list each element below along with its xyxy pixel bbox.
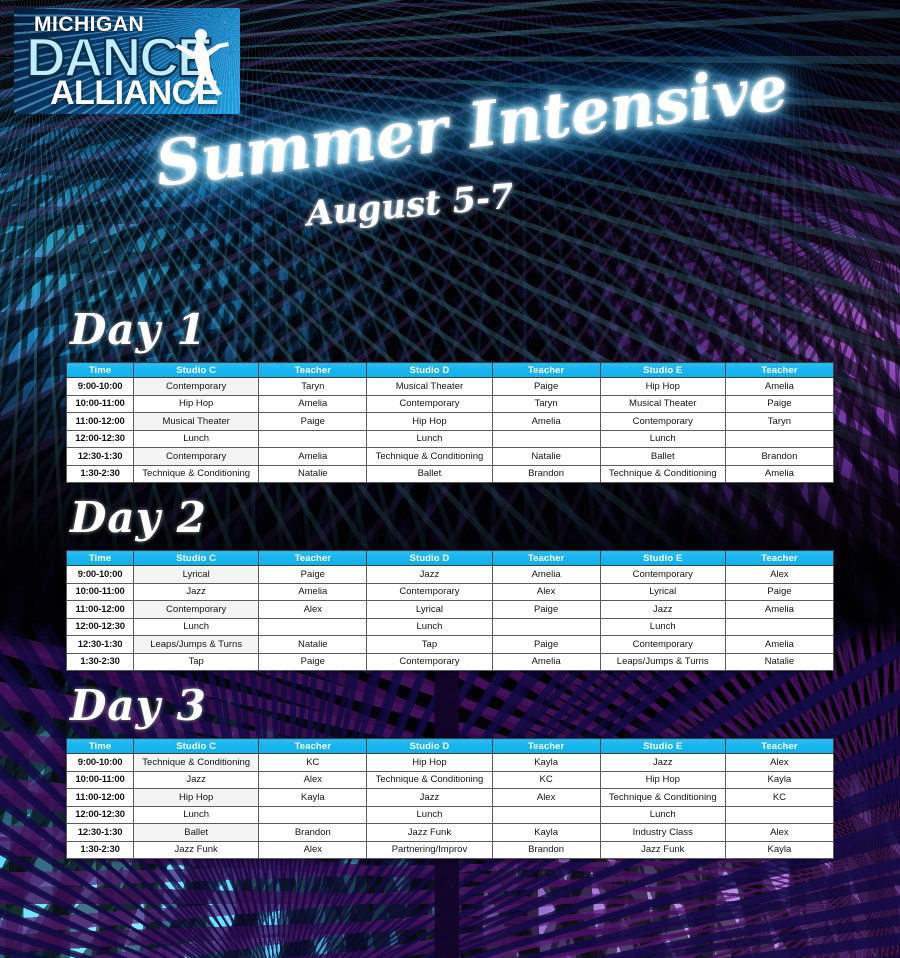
cell-studio-d-teacher (492, 806, 600, 824)
table-row: 12:00-12:30LunchLunchLunch (67, 618, 834, 636)
cell-studio-e-teacher: Alex (725, 824, 833, 842)
table-row: 12:30-1:30BalletBrandonJazz FunkKaylaInd… (67, 824, 834, 842)
cell-studio-c-teacher: KC (259, 754, 367, 772)
cell-time: 11:00-12:00 (67, 413, 134, 431)
cell-studio-e-teacher: Kayla (725, 771, 833, 789)
cell-studio-d-teacher: Amelia (492, 413, 600, 431)
cell-studio-c-class: Hip Hop (134, 395, 259, 413)
cell-studio-d-class: Technique & Conditioning (367, 771, 492, 789)
column-header-teacher-6: Teacher (725, 363, 833, 378)
cell-studio-e-teacher: Alex (725, 566, 833, 584)
cell-studio-d-teacher: Taryn (492, 395, 600, 413)
cell-time: 12:00-12:30 (67, 430, 134, 448)
cell-studio-d-class: Hip Hop (367, 754, 492, 772)
cell-studio-d-teacher: Alex (492, 789, 600, 807)
table-header-row: TimeStudio CTeacherStudio DTeacherStudio… (67, 363, 834, 378)
cell-studio-e-teacher: Natalie (725, 653, 833, 671)
cell-time: 1:30-2:30 (67, 465, 134, 483)
cell-studio-d-class: Lyrical (367, 601, 492, 619)
cell-studio-e-class: Technique & Conditioning (600, 465, 725, 483)
cell-studio-d-class: Lunch (367, 618, 492, 636)
cell-studio-e-class: Leaps/Jumps & Turns (600, 653, 725, 671)
schedule-table-day-1: TimeStudio CTeacherStudio DTeacherStudio… (66, 362, 834, 483)
cell-studio-e-teacher (725, 618, 833, 636)
cell-studio-d-class: Partnering/Improv (367, 841, 492, 859)
cell-studio-c-teacher: Amelia (259, 448, 367, 466)
cell-studio-c-teacher (259, 806, 367, 824)
day-section-1: Day 1TimeStudio CTeacherStudio DTeacherS… (0, 304, 900, 483)
column-header-studio-c-1: Studio C (134, 551, 259, 566)
cell-studio-c-teacher: Alex (259, 771, 367, 789)
cell-studio-c-class: Jazz Funk (134, 841, 259, 859)
table-header-row: TimeStudio CTeacherStudio DTeacherStudio… (67, 739, 834, 754)
cell-studio-e-teacher: Amelia (725, 601, 833, 619)
cell-studio-c-class: Hip Hop (134, 789, 259, 807)
column-header-studio-c-1: Studio C (134, 363, 259, 378)
day-heading-1: Day 1 (70, 304, 900, 356)
column-header-studio-d-3: Studio D (367, 551, 492, 566)
column-header-studio-e-5: Studio E (600, 363, 725, 378)
table-row: 1:30-2:30Jazz FunkAlexPartnering/ImprovB… (67, 841, 834, 859)
cell-studio-e-teacher: Amelia (725, 465, 833, 483)
cell-studio-c-class: Contemporary (134, 448, 259, 466)
table-row: 11:00-12:00Hip HopKaylaJazzAlexTechnique… (67, 789, 834, 807)
cell-studio-d-class: Jazz (367, 566, 492, 584)
cell-studio-c-teacher (259, 618, 367, 636)
column-header-studio-d-3: Studio D (367, 363, 492, 378)
cell-studio-e-class: Lunch (600, 430, 725, 448)
column-header-studio-e-5: Studio E (600, 739, 725, 754)
cell-studio-e-teacher: Amelia (725, 636, 833, 654)
cell-studio-c-class: Ballet (134, 824, 259, 842)
cell-time: 12:00-12:30 (67, 618, 134, 636)
cell-studio-d-teacher (492, 430, 600, 448)
cell-time: 1:30-2:30 (67, 841, 134, 859)
summer-intensive-poster: MICHIGAN DANCE ALLIANCE Summer Intensive… (0, 0, 900, 958)
column-header-teacher-4: Teacher (492, 739, 600, 754)
cell-time: 12:30-1:30 (67, 448, 134, 466)
cell-studio-e-class: Hip Hop (600, 378, 725, 396)
column-header-time-0: Time (67, 363, 134, 378)
table-row: 1:30-2:30TapPaigeContemporaryAmeliaLeaps… (67, 653, 834, 671)
cell-time: 12:00-12:30 (67, 806, 134, 824)
cell-studio-c-class: Lunch (134, 430, 259, 448)
table-row: 12:00-12:30LunchLunchLunch (67, 806, 834, 824)
cell-studio-e-class: Contemporary (600, 566, 725, 584)
cell-studio-d-teacher: Kayla (492, 754, 600, 772)
cell-studio-e-class: Jazz (600, 601, 725, 619)
cell-studio-d-class: Jazz (367, 789, 492, 807)
column-header-teacher-6: Teacher (725, 739, 833, 754)
cell-studio-c-class: Lyrical (134, 566, 259, 584)
cell-time: 9:00-10:00 (67, 378, 134, 396)
cell-studio-e-teacher: Taryn (725, 413, 833, 431)
cell-studio-c-teacher: Brandon (259, 824, 367, 842)
cell-studio-c-teacher: Natalie (259, 465, 367, 483)
table-row: 9:00-10:00ContemporaryTarynMusical Theat… (67, 378, 834, 396)
cell-studio-e-class: Technique & Conditioning (600, 789, 725, 807)
cell-studio-e-class: Lunch (600, 618, 725, 636)
table-row: 10:00-11:00JazzAlexTechnique & Condition… (67, 771, 834, 789)
cell-studio-d-teacher: Paige (492, 601, 600, 619)
cell-studio-d-teacher: Kayla (492, 824, 600, 842)
table-row: 10:00-11:00Hip HopAmeliaContemporaryTary… (67, 395, 834, 413)
cell-studio-c-class: Jazz (134, 771, 259, 789)
cell-studio-d-teacher: Alex (492, 583, 600, 601)
cell-studio-e-teacher: Kayla (725, 841, 833, 859)
cell-studio-d-teacher (492, 618, 600, 636)
cell-studio-e-teacher: KC (725, 789, 833, 807)
cell-studio-c-class: Technique & Conditioning (134, 465, 259, 483)
ballet-dancer-icon (170, 26, 232, 98)
cell-studio-e-class: Hip Hop (600, 771, 725, 789)
cell-studio-c-teacher: Taryn (259, 378, 367, 396)
table-row: 1:30-2:30Technique & ConditioningNatalie… (67, 465, 834, 483)
schedule-table-day-2: TimeStudio CTeacherStudio DTeacherStudio… (66, 550, 834, 671)
cell-studio-e-class: Lyrical (600, 583, 725, 601)
cell-studio-d-teacher: Natalie (492, 448, 600, 466)
table-row: 12:30-1:30ContemporaryAmeliaTechnique & … (67, 448, 834, 466)
column-header-teacher-4: Teacher (492, 363, 600, 378)
cell-studio-e-teacher (725, 806, 833, 824)
cell-studio-c-class: Technique & Conditioning (134, 754, 259, 772)
cell-studio-d-class: Lunch (367, 806, 492, 824)
table-row: 9:00-10:00Technique & ConditioningKCHip … (67, 754, 834, 772)
cell-studio-d-class: Musical Theater (367, 378, 492, 396)
cell-studio-e-teacher: Paige (725, 583, 833, 601)
cell-studio-e-class: Contemporary (600, 413, 725, 431)
cell-time: 12:30-1:30 (67, 636, 134, 654)
cell-studio-e-class: Industry Class (600, 824, 725, 842)
michigan-dance-alliance-logo: MICHIGAN DANCE ALLIANCE (14, 8, 240, 114)
cell-studio-c-teacher: Amelia (259, 395, 367, 413)
cell-studio-e-class: Contemporary (600, 636, 725, 654)
cell-studio-d-teacher: Brandon (492, 465, 600, 483)
column-header-time-0: Time (67, 739, 134, 754)
cell-studio-e-class: Jazz Funk (600, 841, 725, 859)
cell-studio-e-class: Lunch (600, 806, 725, 824)
cell-studio-d-teacher: Amelia (492, 653, 600, 671)
cell-studio-d-class: Lunch (367, 430, 492, 448)
cell-time: 10:00-11:00 (67, 395, 134, 413)
cell-studio-c-class: Tap (134, 653, 259, 671)
column-header-studio-d-3: Studio D (367, 739, 492, 754)
cell-studio-c-class: Contemporary (134, 378, 259, 396)
table-row: 10:00-11:00JazzAmeliaContemporaryAlexLyr… (67, 583, 834, 601)
day-heading-3: Day 3 (70, 680, 900, 732)
column-header-teacher-6: Teacher (725, 551, 833, 566)
column-header-teacher-4: Teacher (492, 551, 600, 566)
cell-studio-c-teacher: Paige (259, 413, 367, 431)
cell-studio-c-teacher (259, 430, 367, 448)
cell-studio-c-teacher: Alex (259, 601, 367, 619)
cell-studio-c-class: Lunch (134, 618, 259, 636)
cell-studio-c-teacher: Paige (259, 653, 367, 671)
cell-studio-e-teacher: Alex (725, 754, 833, 772)
cell-studio-c-class: Jazz (134, 583, 259, 601)
cell-studio-c-teacher: Natalie (259, 636, 367, 654)
table-row: 12:00-12:30LunchLunchLunch (67, 430, 834, 448)
table-row: 9:00-10:00LyricalPaigeJazzAmeliaContempo… (67, 566, 834, 584)
day-section-3: Day 3TimeStudio CTeacherStudio DTeacherS… (0, 680, 900, 859)
cell-studio-c-class: Contemporary (134, 601, 259, 619)
cell-studio-e-class: Musical Theater (600, 395, 725, 413)
cell-studio-c-class: Leaps/Jumps & Turns (134, 636, 259, 654)
column-header-teacher-2: Teacher (259, 739, 367, 754)
column-header-studio-c-1: Studio C (134, 739, 259, 754)
cell-studio-c-class: Musical Theater (134, 413, 259, 431)
column-header-time-0: Time (67, 551, 134, 566)
column-header-studio-e-5: Studio E (600, 551, 725, 566)
table-header-row: TimeStudio CTeacherStudio DTeacherStudio… (67, 551, 834, 566)
day-section-2: Day 2TimeStudio CTeacherStudio DTeacherS… (0, 492, 900, 671)
cell-studio-d-class: Technique & Conditioning (367, 448, 492, 466)
cell-studio-e-teacher (725, 430, 833, 448)
cell-time: 12:30-1:30 (67, 824, 134, 842)
cell-studio-d-teacher: KC (492, 771, 600, 789)
table-row: 11:00-12:00ContemporaryAlexLyricalPaigeJ… (67, 601, 834, 619)
cell-studio-d-class: Contemporary (367, 395, 492, 413)
cell-studio-d-class: Ballet (367, 465, 492, 483)
cell-time: 11:00-12:00 (67, 601, 134, 619)
cell-studio-d-teacher: Paige (492, 378, 600, 396)
cell-studio-d-class: Jazz Funk (367, 824, 492, 842)
cell-studio-c-class: Lunch (134, 806, 259, 824)
cell-time: 9:00-10:00 (67, 566, 134, 584)
cell-studio-e-teacher: Amelia (725, 378, 833, 396)
cell-time: 1:30-2:30 (67, 653, 134, 671)
cell-studio-d-teacher: Brandon (492, 841, 600, 859)
cell-time: 10:00-11:00 (67, 583, 134, 601)
cell-studio-e-class: Ballet (600, 448, 725, 466)
schedule-table-day-3: TimeStudio CTeacherStudio DTeacherStudio… (66, 738, 834, 859)
cell-studio-d-class: Contemporary (367, 653, 492, 671)
table-row: 11:00-12:00Musical TheaterPaigeHip HopAm… (67, 413, 834, 431)
cell-studio-d-class: Tap (367, 636, 492, 654)
column-header-teacher-2: Teacher (259, 363, 367, 378)
column-header-teacher-2: Teacher (259, 551, 367, 566)
cell-studio-c-teacher: Kayla (259, 789, 367, 807)
day-heading-2: Day 2 (70, 492, 900, 544)
cell-studio-d-class: Hip Hop (367, 413, 492, 431)
cell-time: 11:00-12:00 (67, 789, 134, 807)
cell-studio-c-teacher: Paige (259, 566, 367, 584)
cell-time: 10:00-11:00 (67, 771, 134, 789)
cell-time: 9:00-10:00 (67, 754, 134, 772)
cell-studio-e-class: Jazz (600, 754, 725, 772)
cell-studio-c-teacher: Alex (259, 841, 367, 859)
cell-studio-d-teacher: Amelia (492, 566, 600, 584)
cell-studio-d-teacher: Paige (492, 636, 600, 654)
cell-studio-c-teacher: Amelia (259, 583, 367, 601)
cell-studio-e-teacher: Paige (725, 395, 833, 413)
cell-studio-d-class: Contemporary (367, 583, 492, 601)
cell-studio-e-teacher: Brandon (725, 448, 833, 466)
table-row: 12:30-1:30Leaps/Jumps & TurnsNatalieTapP… (67, 636, 834, 654)
